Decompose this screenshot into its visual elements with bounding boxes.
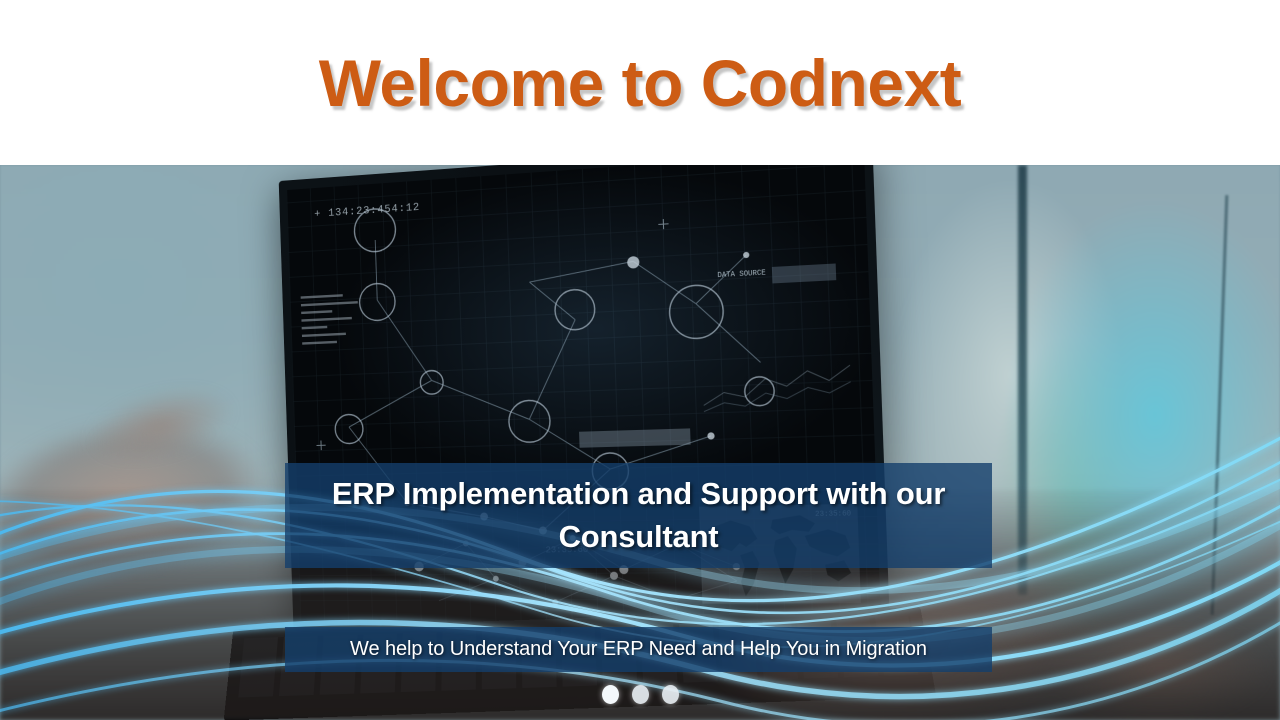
page-title: Welcome to Codnext (319, 50, 962, 116)
page-header: Welcome to Codnext (0, 0, 1280, 165)
screen-ui-chip (772, 263, 836, 283)
screen-mini-chart (702, 359, 851, 414)
hero-subheadline-banner: We help to Understand Your ERP Need and … (285, 627, 992, 672)
carousel-dot-2[interactable] (632, 685, 649, 704)
screen-ui-bar (579, 428, 691, 447)
hero-headline-banner: ERP Implementation and Support with our … (285, 463, 992, 568)
carousel-dots[interactable] (0, 685, 1280, 704)
carousel-dot-3[interactable] (662, 685, 679, 704)
hero-subheadline-text: We help to Understand Your ERP Need and … (350, 638, 927, 661)
carousel-dot-1[interactable] (602, 685, 619, 704)
slide-page: Welcome to Codnext + 134:23:454:12 (0, 0, 1280, 720)
hero-headline-text: ERP Implementation and Support with our … (303, 473, 974, 559)
hero-carousel[interactable]: + 134:23:454:12 (0, 165, 1280, 720)
screen-side-panel (301, 290, 390, 352)
